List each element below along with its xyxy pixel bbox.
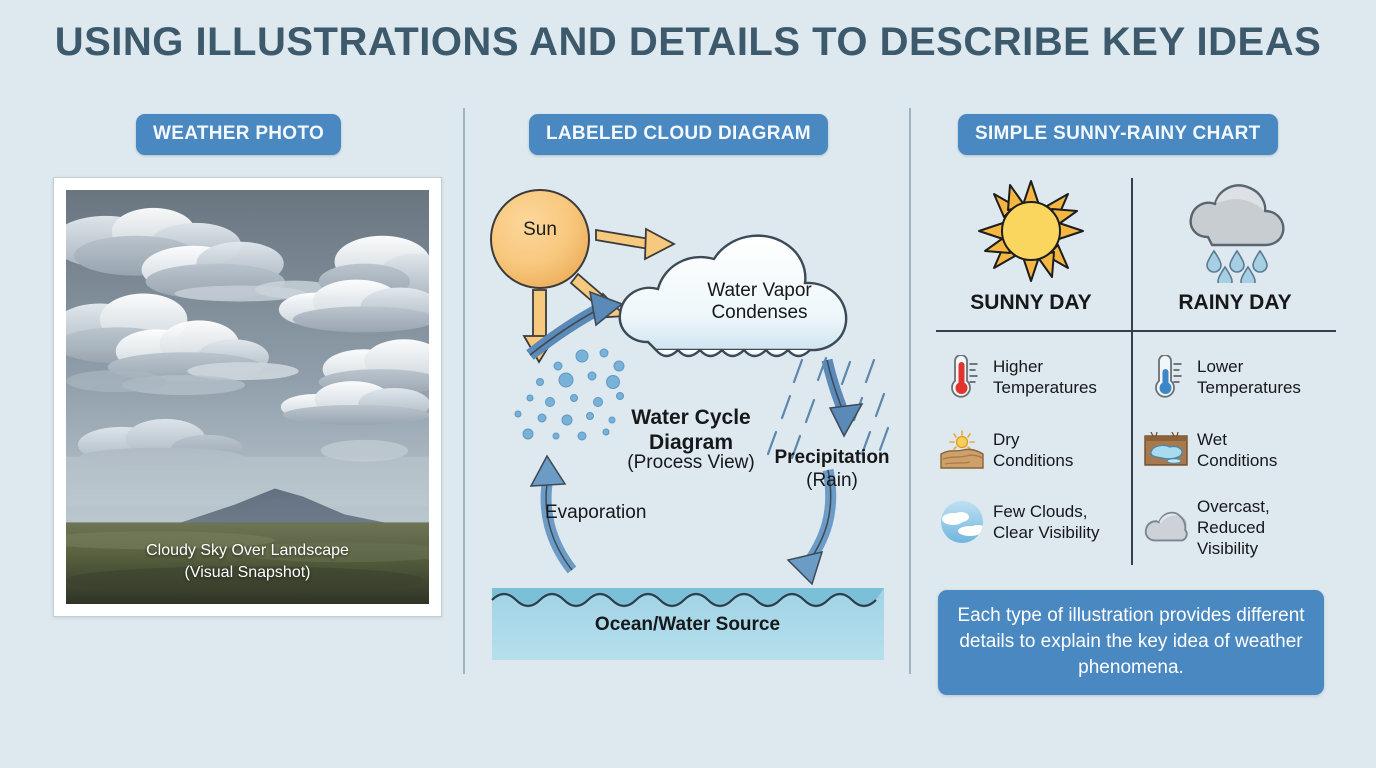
feature-text: Overcast, Reduced Visibility — [1197, 496, 1270, 559]
puddle-icon — [1144, 428, 1188, 472]
overcast-cloud-graphic — [1144, 509, 1188, 547]
feature-text: Dry Conditions — [993, 429, 1073, 471]
feature-line-2: Temperatures — [993, 377, 1097, 398]
chart-column-header-rainy: RAINY DAY — [1140, 178, 1330, 315]
clear-sky-graphic — [940, 500, 984, 544]
section-badge-simple-sunny-rainy-chart: SIMPLE SUNNY-RAINY CHART — [958, 114, 1278, 155]
desert-sun-icon — [940, 428, 984, 472]
weather-photo-image: Cloudy Sky Over Landscape (Visual Snapsh… — [66, 190, 429, 604]
feature-line-1: Overcast, — [1197, 496, 1270, 517]
summary-callout: Each type of illustration provides diffe… — [938, 590, 1324, 695]
column-divider-left — [463, 108, 465, 674]
column-divider-right — [909, 108, 911, 674]
overcast-cloud-icon — [1144, 506, 1188, 550]
feature-line-2: Clear Visibility — [993, 522, 1099, 543]
feature-row-few-clouds: Few Clouds, Clear Visibility — [940, 500, 1135, 544]
sun-icon-graphic — [977, 179, 1085, 283]
feature-text: Lower Temperatures — [1197, 356, 1301, 398]
feature-row-lower-temperatures: Lower Temperatures — [1144, 355, 1339, 399]
page-title: Using Illustrations and Details to Descr… — [0, 20, 1376, 65]
precipitation-label: Precipitation — [757, 447, 907, 469]
feature-text: Higher Temperatures — [993, 356, 1097, 398]
weather-photo-frame: Cloudy Sky Over Landscape (Visual Snapsh… — [53, 177, 442, 617]
chart-column-header-sunny: SUNNY DAY — [936, 178, 1126, 315]
precipitation-sublabel: (Rain) — [757, 470, 907, 492]
desert-sun-graphic — [940, 430, 984, 470]
section-badge-weather-photo: WEATHER PHOTO — [136, 114, 341, 155]
cloud-label-line-2: Condenses — [667, 302, 852, 324]
water-cycle-title-line-1: Water Cycle — [601, 406, 781, 431]
rain-cloud-icon-graphic — [1180, 179, 1290, 283]
feature-text: Wet Conditions — [1197, 429, 1277, 471]
clear-sky-icon — [940, 500, 984, 544]
thermometer-cold-icon — [1144, 355, 1188, 399]
chart-heading-label-rainy: RAINY DAY — [1140, 291, 1330, 315]
cloud-label: Water Vapor Condenses — [667, 280, 852, 325]
feature-row-wet-conditions: Wet Conditions — [1144, 428, 1339, 472]
cloud-label-line-1: Water Vapor — [667, 280, 852, 302]
chart-heading-label-sunny: SUNNY DAY — [936, 291, 1126, 315]
feature-line-1: Lower — [1197, 356, 1301, 377]
feature-row-dry-conditions: Dry Conditions — [940, 428, 1135, 472]
feature-text: Few Clouds, Clear Visibility — [993, 501, 1099, 543]
section-badge-labeled-cloud-diagram: LABELED CLOUD DIAGRAM — [529, 114, 828, 155]
sun-to-cloud-arrow — [596, 229, 674, 259]
rain-cloud-icon — [1140, 178, 1330, 283]
feature-line-2: Conditions — [993, 450, 1073, 471]
feature-line-1: Few Clouds, — [993, 501, 1099, 522]
feature-line-1: Wet — [1197, 429, 1277, 450]
cloudy-sky-illustration — [66, 190, 429, 604]
infographic-canvas: Using Illustrations and Details to Descr… — [0, 0, 1376, 768]
feature-row-overcast: Overcast, Reduced Visibility — [1144, 496, 1339, 559]
thermometer-hot-graphic — [942, 355, 982, 399]
precipitation-arrow — [827, 360, 862, 436]
feature-line-2: Temperatures — [1197, 377, 1301, 398]
sun-label: Sun — [500, 219, 580, 241]
chart-header-rule — [936, 330, 1336, 332]
thermometer-cold-graphic — [1146, 355, 1186, 399]
ocean-label: Ocean/Water Source — [490, 614, 885, 636]
thermometer-hot-icon — [940, 355, 984, 399]
puddle-graphic — [1144, 432, 1188, 468]
feature-line-1: Dry — [993, 429, 1073, 450]
evaporation-label: Evaporation — [545, 502, 690, 524]
feature-line-2: Conditions — [1197, 450, 1277, 471]
sun-icon — [936, 178, 1126, 283]
feature-row-higher-temperatures: Higher Temperatures — [940, 355, 1135, 399]
water-cycle-title: Water Cycle Diagram — [601, 406, 781, 456]
feature-line-3: Visibility — [1197, 538, 1270, 559]
feature-line-1: Higher — [993, 356, 1097, 377]
feature-line-2: Reduced — [1197, 517, 1270, 538]
